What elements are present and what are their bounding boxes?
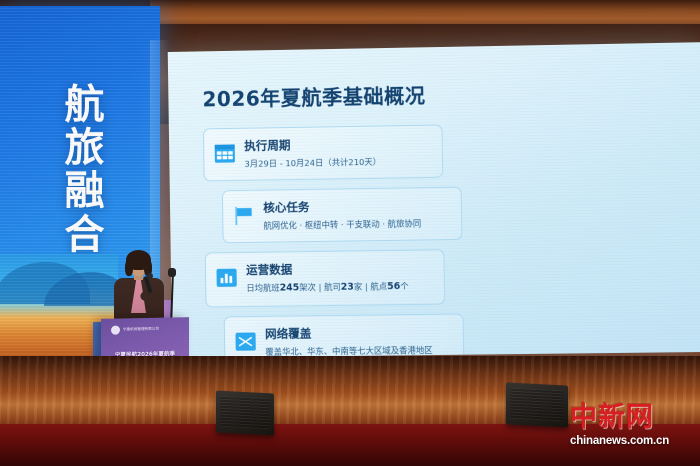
- podium-org-name: 宁夏机场管理有限公司: [123, 327, 159, 333]
- podium-org-logo: 宁夏机场管理有限公司: [111, 325, 159, 335]
- card-operating-data: 运营数据 日均航班245架次 | 航司23家 | 航点56个: [205, 249, 445, 307]
- speaker-grille: [510, 388, 564, 422]
- speaker-grille: [220, 396, 270, 430]
- card-network-coverage: 网络覆盖 覆盖华北、华东、中南等七大区域及香港地区: [224, 313, 465, 358]
- metric-value-2: 23: [341, 282, 354, 293]
- metric-value-3: 56: [387, 281, 400, 292]
- stage-monitor-speaker-right: [506, 382, 568, 427]
- card-core-tasks: 核心任务 航网优化 · 枢纽中转 · 干支联动 · 航旅协同: [222, 187, 463, 244]
- slide-card-grid: 执行周期 3月29日 - 10月24日（共计210天） 核心任务 航网优: [203, 121, 678, 358]
- vertical-banner-text: 航 旅 融 合: [46, 84, 124, 257]
- metric-unit-1: 架次: [299, 282, 316, 292]
- stage-monitor-speaker-left: [216, 390, 274, 435]
- card-detail: 航网优化 · 枢纽中转 · 干支联动 · 航旅协同: [263, 217, 451, 232]
- flag-icon: [233, 205, 254, 226]
- card-heading: 核心任务: [263, 197, 451, 216]
- bar-chart-icon: [216, 267, 237, 288]
- metric-value-1: 245: [280, 282, 300, 293]
- metric-unit-3: 个: [400, 281, 409, 291]
- watermark-url: chinanews.com.cn: [570, 435, 690, 447]
- metric-label-3: 航点: [370, 281, 387, 291]
- banner-char-3: 融: [46, 170, 124, 213]
- calendar-icon: [214, 143, 235, 164]
- card-heading: 网络覆盖: [265, 323, 453, 341]
- speaker-hair-left: [125, 260, 133, 276]
- card-heading: 执行周期: [244, 135, 432, 154]
- airline-logo-mark: [111, 326, 120, 335]
- metric-label-2: 航司: [324, 282, 341, 292]
- banner-char-1: 航: [46, 84, 124, 127]
- banner-char-4: 合: [46, 214, 124, 257]
- microphone-capsule: [147, 273, 153, 279]
- presentation-slide-screen: 2026年夏航季基础概况: [168, 42, 700, 358]
- watermark-logo-text: 中新网: [570, 404, 690, 431]
- conference-stage-photo: 航 旅 融 合 2026年夏航季基础概况: [0, 0, 700, 466]
- watermark: 中新网 chinanews.com.cn: [570, 404, 690, 456]
- card-heading: 运营数据: [246, 259, 434, 278]
- metric-label-1: 日均航班: [246, 283, 279, 293]
- card-execution-period: 执行周期 3月29日 - 10月24日（共计210天）: [203, 124, 443, 181]
- card-detail: 3月29日 - 10月24日（共计210天）: [244, 155, 432, 170]
- card-detail: 日均航班245架次 | 航司23家 | 航点56个: [246, 280, 434, 296]
- slide-title: 2026年夏航季基础概况: [202, 75, 674, 112]
- banner-char-2: 旅: [46, 127, 124, 170]
- network-icon: [235, 330, 256, 351]
